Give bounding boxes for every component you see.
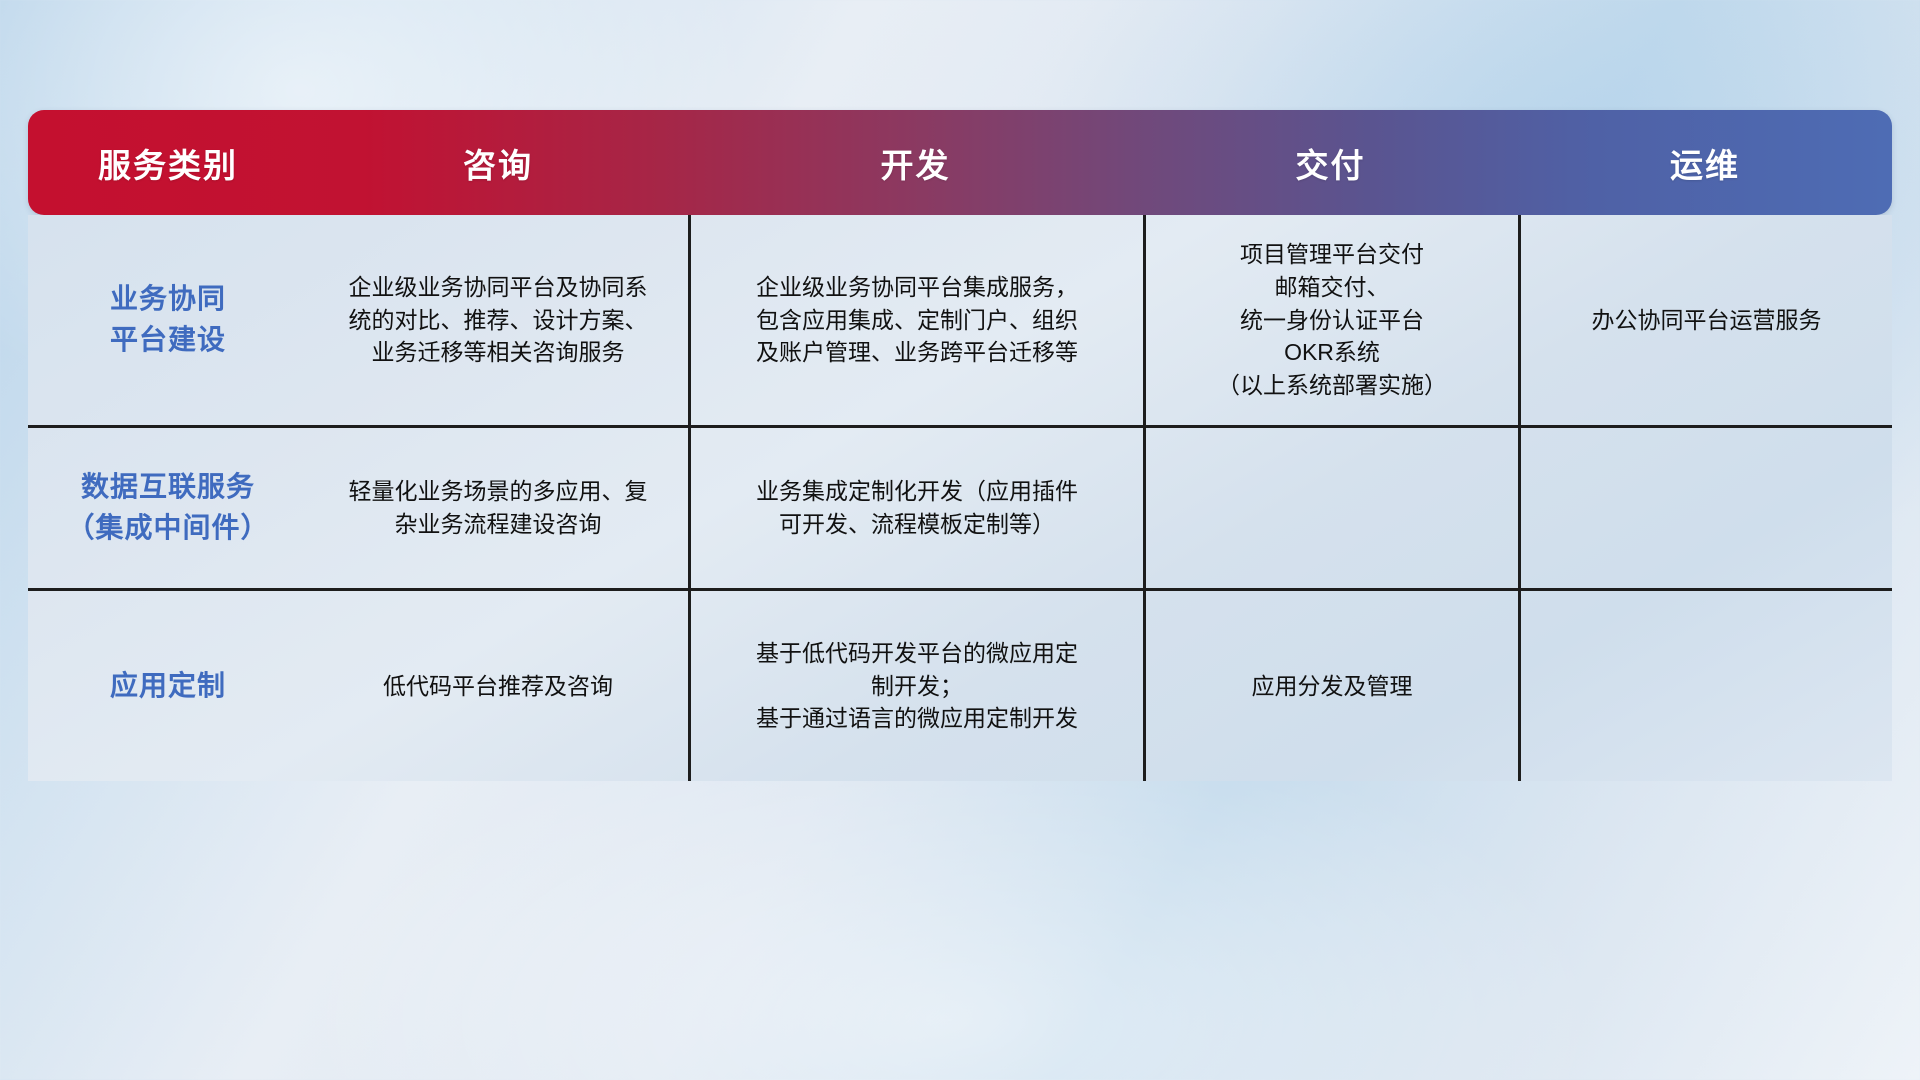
cell-consulting-app-customization: 低代码平台推荐及咨询 bbox=[308, 591, 688, 781]
row-label-data-integration: 数据互联服务 （集成中间件） bbox=[28, 428, 308, 588]
column-header-delivery: 交付 bbox=[1143, 110, 1518, 215]
cell-operations-app-customization bbox=[1518, 591, 1892, 781]
cell-development-business-collaboration: 企业级业务协同平台集成服务， 包含应用集成、定制门户、组织 及账户管理、业务跨平… bbox=[688, 215, 1143, 425]
column-header-consulting: 咨询 bbox=[308, 110, 688, 215]
cell-delivery-data-integration bbox=[1143, 428, 1518, 588]
cell-delivery-business-collaboration: 项目管理平台交付 邮箱交付、 统一身份认证平台 OKR系统 （以上系统部署实施） bbox=[1143, 215, 1518, 425]
cell-operations-data-integration bbox=[1518, 428, 1892, 588]
cell-consulting-business-collaboration: 企业级业务协同平台及协同系 统的对比、推荐、设计方案、 业务迁移等相关咨询服务 bbox=[308, 215, 688, 425]
column-header-operations: 运维 bbox=[1518, 110, 1892, 215]
table-row: 应用定制 低代码平台推荐及咨询 基于低代码开发平台的微应用定 制开发； 基于通过… bbox=[28, 588, 1892, 781]
row-label-business-collaboration: 业务协同 平台建设 bbox=[28, 215, 308, 425]
cell-development-data-integration: 业务集成定制化开发（应用插件 可开发、流程模板定制等） bbox=[688, 428, 1143, 588]
cell-delivery-app-customization: 应用分发及管理 bbox=[1143, 591, 1518, 781]
cell-operations-business-collaboration: 办公协同平台运营服务 bbox=[1518, 215, 1892, 425]
table-row: 业务协同 平台建设 企业级业务协同平台及协同系 统的对比、推荐、设计方案、 业务… bbox=[28, 215, 1892, 425]
column-header-category: 服务类别 bbox=[28, 110, 308, 215]
column-header-development: 开发 bbox=[688, 110, 1143, 215]
service-matrix-table: 服务类别 咨询 开发 交付 运维 业务协同 平台建设 企业级业务协同平台及协同系… bbox=[28, 110, 1892, 781]
cell-consulting-data-integration: 轻量化业务场景的多应用、复 杂业务流程建设咨询 bbox=[308, 428, 688, 588]
row-label-app-customization: 应用定制 bbox=[28, 591, 308, 781]
cell-development-app-customization: 基于低代码开发平台的微应用定 制开发； 基于通过语言的微应用定制开发 bbox=[688, 591, 1143, 781]
table-header-row: 服务类别 咨询 开发 交付 运维 bbox=[28, 110, 1892, 215]
table-row: 数据互联服务 （集成中间件） 轻量化业务场景的多应用、复 杂业务流程建设咨询 业… bbox=[28, 425, 1892, 588]
table-body: 业务协同 平台建设 企业级业务协同平台及协同系 统的对比、推荐、设计方案、 业务… bbox=[28, 215, 1892, 781]
